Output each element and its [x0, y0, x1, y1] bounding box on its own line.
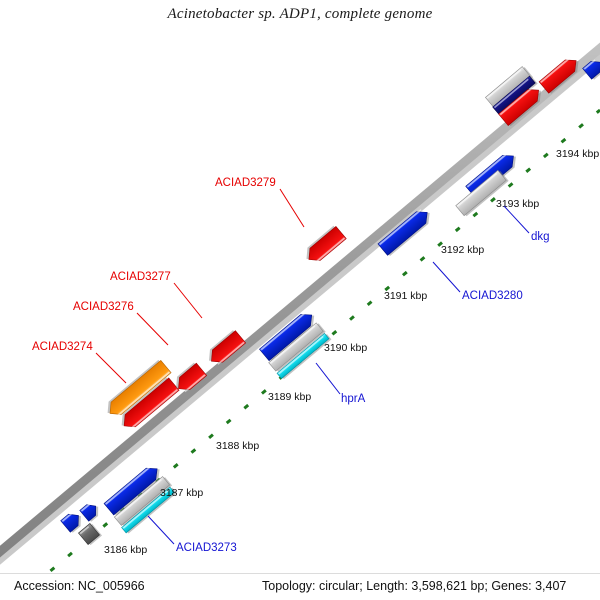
- gene-body[interactable]: [78, 523, 99, 544]
- gene-label-ACIAD3274[interactable]: ACIAD3274: [32, 341, 93, 353]
- accession-text: Accession: NC_005966: [14, 579, 145, 593]
- label-leader-line: [137, 313, 168, 345]
- scale-tick-labels: 3186 kbp3187 kbp3188 kbp3189 kbp3190 kbp…: [104, 148, 599, 556]
- genome-canvas[interactable]: 3186 kbp3187 kbp3188 kbp3189 kbp3190 kbp…: [0, 0, 600, 600]
- scale-tick-label: 3193 kbp: [496, 198, 539, 210]
- label-leader-line: [174, 283, 202, 318]
- scale-tick-label: 3189 kbp: [268, 391, 311, 403]
- gene-label-ACIAD3276[interactable]: ACIAD3276: [73, 301, 134, 313]
- label-leader-line: [433, 262, 460, 292]
- label-leader-line: [280, 189, 304, 227]
- gene-label-ACIAD3277[interactable]: ACIAD3277: [110, 271, 171, 283]
- scale-tick-label: 3190 kbp: [324, 342, 367, 354]
- gene-label-dkg[interactable]: dkg: [531, 231, 550, 243]
- scale-tick-label: 3188 kbp: [216, 440, 259, 452]
- genome-graphic-view: Acinetobacter sp. ADP1, complete genome: [0, 0, 600, 600]
- scale-tick-label: 3192 kbp: [441, 244, 484, 256]
- scale-tick-label: 3194 kbp: [556, 148, 599, 160]
- genome-meta-text: Topology: circular; Length: 3,598,621 bp…: [262, 579, 566, 593]
- scale-tick-label: 3186 kbp: [104, 544, 147, 556]
- gene-label-ACIAD3273[interactable]: ACIAD3273: [176, 542, 237, 554]
- status-bar: Accession: NC_005966 Topology: circular;…: [0, 573, 600, 600]
- gene-label-ACIAD3280[interactable]: ACIAD3280: [462, 290, 523, 302]
- label-leader-line: [96, 353, 126, 383]
- scale-tick-label: 3191 kbp: [384, 290, 427, 302]
- gene-feature[interactable]: [301, 225, 346, 267]
- label-leader-line: [148, 516, 174, 544]
- label-leader-line: [316, 363, 340, 394]
- scale-tick-label: 3187 kbp: [160, 487, 203, 499]
- gene-feature[interactable]: [80, 500, 103, 523]
- gene-label-ACIAD3279[interactable]: ACIAD3279: [215, 177, 276, 189]
- label-leader-line: [504, 206, 529, 233]
- gene-feature[interactable]: [78, 522, 102, 546]
- gene-label-hprA[interactable]: hprA: [341, 393, 366, 405]
